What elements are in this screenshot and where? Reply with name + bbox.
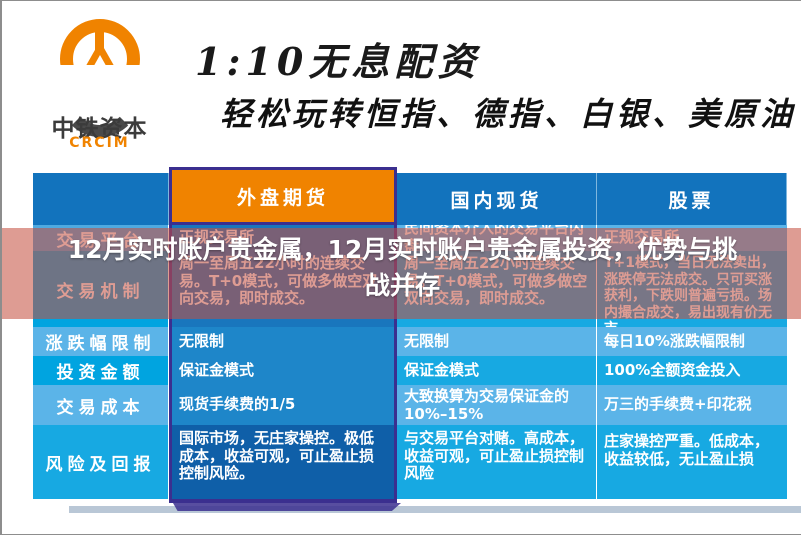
row-label-investment-amount: 投资金额	[33, 356, 169, 385]
table-header-corner	[33, 173, 169, 225]
row-label-price-limit: 涨跌幅限制	[33, 327, 169, 356]
cell-overseas-futures: 保证金模式	[169, 356, 397, 385]
table-header-overseas-futures[interactable]: 外盘期货	[169, 167, 397, 225]
crcim-logo: 中铁资本 CRCIM	[47, 19, 152, 149]
table-row: 风险及回报 国际市场，无庄家操控。极低成本，收益可观，可止盈止损控制风险。 与交…	[33, 425, 787, 499]
cell-domestic-spot: 与交易平台对赌。高成本，收益可观，可止盈止损控制风险	[397, 425, 597, 499]
cell-stock: 每日10%涨跌幅限制	[597, 327, 787, 356]
table-header-row: 外盘期货 国内现货 股票	[33, 173, 787, 225]
table-row: 涨跌幅限制 无限制 无限制 每日10%涨跌幅限制	[33, 327, 787, 356]
headline-secondary: 轻松玩转恒指、德指、白银、美原油	[220, 89, 796, 135]
row-label-trading-cost: 交易成本	[33, 385, 169, 425]
cell-domestic-spot: 无限制	[397, 327, 597, 356]
highlight-column-bottom-border	[169, 499, 397, 503]
table-row: 投资金额 保证金模式 保证金模式 100%全额资金投入	[33, 356, 787, 385]
promo-poster: 中铁资本 CRCIM 1:10无息配资 轻松玩转恒指、德指、白银、美原油 外盘期…	[0, 0, 801, 535]
cell-stock: 万三的手续费+印花税	[597, 385, 787, 425]
highlight-column-shadow	[173, 503, 401, 511]
cell-domestic-spot: 大致换算为交易保证金的10%–15%	[397, 385, 597, 425]
cell-overseas-futures: 现货手续费的1/5	[169, 385, 397, 425]
cell-overseas-futures: 国际市场，无庄家操控。极低成本，收益可观，可止盈止损控制风险。	[169, 425, 397, 499]
cell-domestic-spot: 保证金模式	[397, 356, 597, 385]
comparison-table: 外盘期货 国内现货 股票 交易平台 正规交易所 民间资本介入的交易平台内盘 正规…	[33, 173, 787, 506]
table-row: 交易成本 现货手续费的1/5 大致换算为交易保证金的10%–15% 万三的手续费…	[33, 385, 787, 425]
cell-stock: 100%全额资金投入	[597, 356, 787, 385]
cell-overseas-futures: 无限制	[169, 327, 397, 356]
headline-primary: 1:10无息配资	[195, 31, 480, 86]
logo-name-en: CRCIM	[47, 135, 152, 151]
poster-header: 中铁资本 CRCIM 1:10无息配资 轻松玩转恒指、德指、白银、美原油	[2, 1, 801, 166]
overlay-headline-text: 12月实时账户贵金属，12月实时账户贵金属投资，优势与挑战并存	[2, 232, 801, 303]
table-header-domestic-spot[interactable]: 国内现货	[397, 173, 597, 225]
row-label-risk-return: 风险及回报	[33, 425, 169, 499]
table-header-stock[interactable]: 股票	[597, 173, 787, 225]
cell-stock: 庄家操控严重。低成本，收益较低，无止盈止损	[597, 425, 787, 499]
